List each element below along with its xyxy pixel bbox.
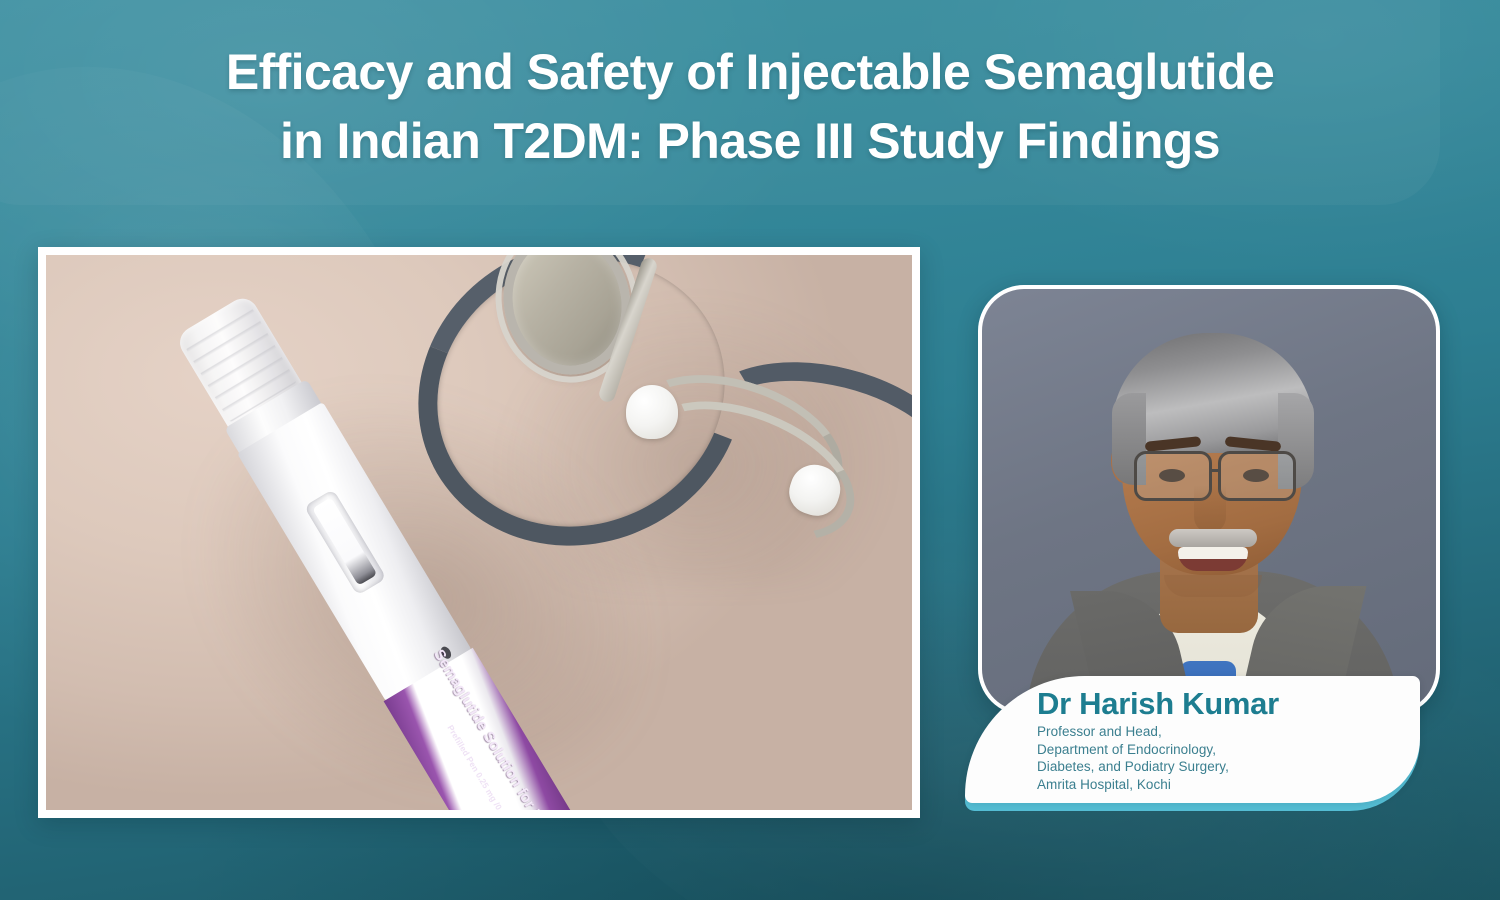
speaker-credential-line-1: Professor and Head, bbox=[1037, 723, 1412, 741]
portrait-mouth bbox=[1178, 547, 1248, 571]
product-photo-frame: Semaglutide Solution for Injection Prefi… bbox=[38, 247, 920, 818]
portrait-glasses-right-lens bbox=[1218, 451, 1296, 501]
portrait-teeth bbox=[1178, 547, 1248, 559]
speaker-credential-line-2: Department of Endocrinology, bbox=[1037, 741, 1412, 759]
portrait-chin bbox=[1164, 575, 1262, 597]
portrait-nose bbox=[1194, 485, 1226, 533]
speaker-info-card: Dr Harish Kumar Professor and Head, Depa… bbox=[965, 676, 1420, 811]
title-line-1: Efficacy and Safety of Injectable Semagl… bbox=[0, 38, 1500, 107]
speaker-credential-line-3: Diabetes, and Podiatry Surgery, bbox=[1037, 758, 1412, 776]
speaker-credential-line-4: Amrita Hospital, Kochi bbox=[1037, 776, 1412, 794]
stethoscope-eartip-left bbox=[626, 385, 678, 439]
title-line-2: in Indian T2DM: Phase III Study Findings bbox=[0, 107, 1500, 176]
speaker-name: Dr Harish Kumar bbox=[1037, 685, 1412, 723]
product-photo: Semaglutide Solution for Injection Prefi… bbox=[46, 255, 912, 810]
stethoscope-icon bbox=[376, 255, 912, 575]
portrait-glasses-bridge bbox=[1211, 469, 1221, 472]
speaker-portrait bbox=[978, 285, 1440, 715]
page-title: Efficacy and Safety of Injectable Semagl… bbox=[0, 38, 1500, 176]
info-card-content: Dr Harish Kumar Professor and Head, Depa… bbox=[1037, 685, 1412, 793]
portrait-mustache bbox=[1169, 529, 1257, 547]
